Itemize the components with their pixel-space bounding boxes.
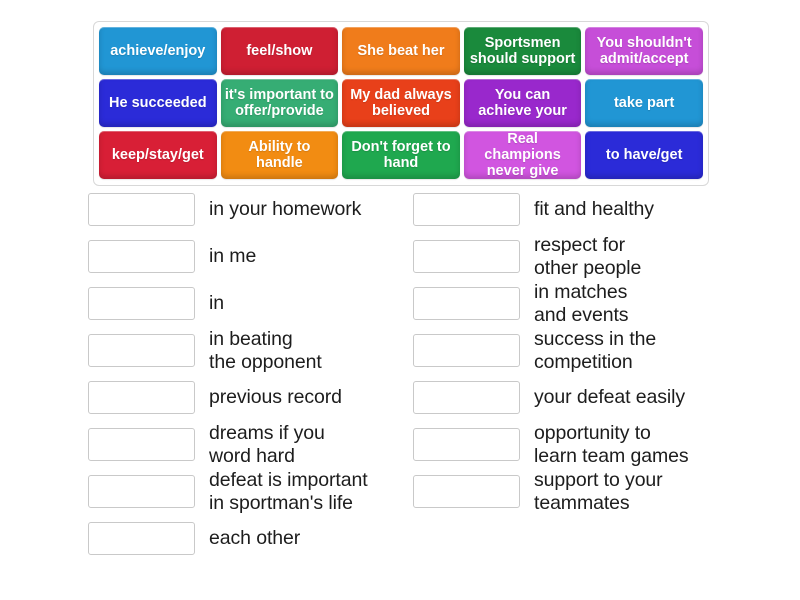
word-tile-label: My dad always believed <box>346 87 456 119</box>
answer-row: defeat is important in sportman's life <box>88 468 400 515</box>
answer-row: respect for other people <box>413 233 800 280</box>
answer-row: fit and healthy <box>413 186 800 233</box>
word-tile[interactable]: keep/stay/get <box>99 131 217 179</box>
answer-label: dreams if you word hard <box>209 422 325 468</box>
answer-label: in matches and events <box>534 281 628 327</box>
word-tile-label: Sportsmen should support <box>468 35 578 67</box>
drop-box[interactable] <box>88 193 195 226</box>
drop-box[interactable] <box>413 193 520 226</box>
answer-label: support to your teammates <box>534 469 663 515</box>
answer-row: success in the competition <box>413 327 800 374</box>
word-tile-label: it's important to offer/provide <box>225 87 335 119</box>
word-tile-label: Don't forget to hand <box>346 139 456 171</box>
answer-row: in me <box>88 233 400 280</box>
word-tile-label: keep/stay/get <box>112 147 204 163</box>
answer-label: success in the competition <box>534 328 656 374</box>
drop-box[interactable] <box>413 240 520 273</box>
tile-bank: achieve/enjoy feel/show She beat her Spo… <box>93 21 709 186</box>
answer-label: previous record <box>209 386 342 409</box>
answer-area: in your homework in me in in beating the… <box>0 186 800 562</box>
word-tile[interactable]: My dad always believed <box>342 79 460 127</box>
answer-row: in your homework <box>88 186 400 233</box>
answer-row: support to your teammates <box>413 468 800 515</box>
answer-row: each other <box>88 515 400 562</box>
word-tile-label: feel/show <box>246 43 312 59</box>
drop-box[interactable] <box>88 475 195 508</box>
drop-box[interactable] <box>413 475 520 508</box>
answer-row: previous record <box>88 374 400 421</box>
answer-label: in <box>209 292 224 315</box>
word-tile[interactable]: achieve/enjoy <box>99 27 217 75</box>
answer-label: each other <box>209 527 300 550</box>
word-tile[interactable]: Don't forget to hand <box>342 131 460 179</box>
answer-label: opportunity to learn team games <box>534 422 688 468</box>
drop-box[interactable] <box>413 334 520 367</box>
word-tile[interactable]: Sportsmen should support <box>464 27 582 75</box>
word-tile[interactable]: Ability to handle <box>221 131 339 179</box>
answer-label: defeat is important in sportman's life <box>209 469 368 515</box>
drop-box[interactable] <box>88 287 195 320</box>
answer-row: your defeat easily <box>413 374 800 421</box>
word-tile-label: to have/get <box>606 147 683 163</box>
answer-row: dreams if you word hard <box>88 421 400 468</box>
word-tile[interactable]: He succeeded <box>99 79 217 127</box>
tile-row: keep/stay/get Ability to handle Don't fo… <box>99 131 703 179</box>
word-tile-label: You can achieve your <box>468 87 578 119</box>
drop-box[interactable] <box>413 287 520 320</box>
answer-label: your defeat easily <box>534 386 685 409</box>
answer-label: respect for other people <box>534 234 641 280</box>
answer-label: in me <box>209 245 256 268</box>
word-tile[interactable]: feel/show <box>221 27 339 75</box>
answer-row: opportunity to learn team games <box>413 421 800 468</box>
drop-box[interactable] <box>88 428 195 461</box>
tile-row: He succeeded it's important to offer/pro… <box>99 79 703 127</box>
answer-row: in <box>88 280 400 327</box>
tile-row: achieve/enjoy feel/show She beat her Spo… <box>99 27 703 75</box>
word-tile-label: achieve/enjoy <box>110 43 205 59</box>
word-tile[interactable]: You can achieve your <box>464 79 582 127</box>
answer-row: in beating the opponent <box>88 327 400 374</box>
drop-box[interactable] <box>88 381 195 414</box>
answer-label: in your homework <box>209 198 361 221</box>
word-tile[interactable]: it's important to offer/provide <box>221 79 339 127</box>
word-tile[interactable]: You shouldn't admit/accept <box>585 27 703 75</box>
word-tile-label: take part <box>614 95 674 111</box>
word-tile-label: You shouldn't admit/accept <box>589 35 699 67</box>
drop-box[interactable] <box>413 381 520 414</box>
answer-column-left: in your homework in me in in beating the… <box>0 186 400 562</box>
word-tile-label: Ability to handle <box>225 139 335 171</box>
drop-box[interactable] <box>88 522 195 555</box>
drop-box[interactable] <box>413 428 520 461</box>
word-tile[interactable]: take part <box>585 79 703 127</box>
drop-box[interactable] <box>88 240 195 273</box>
answer-row: in matches and events <box>413 280 800 327</box>
word-tile[interactable]: She beat her <box>342 27 460 75</box>
word-tile[interactable]: Real champions never give <box>464 131 582 179</box>
word-tile[interactable]: to have/get <box>585 131 703 179</box>
answer-column-right: fit and healthy respect for other people… <box>400 186 800 562</box>
word-tile-label: Real champions never give <box>468 131 578 180</box>
word-tile-label: She beat her <box>357 43 444 59</box>
answer-label: in beating the opponent <box>209 328 322 374</box>
word-tile-label: He succeeded <box>109 95 207 111</box>
answer-label: fit and healthy <box>534 198 654 221</box>
drop-box[interactable] <box>88 334 195 367</box>
